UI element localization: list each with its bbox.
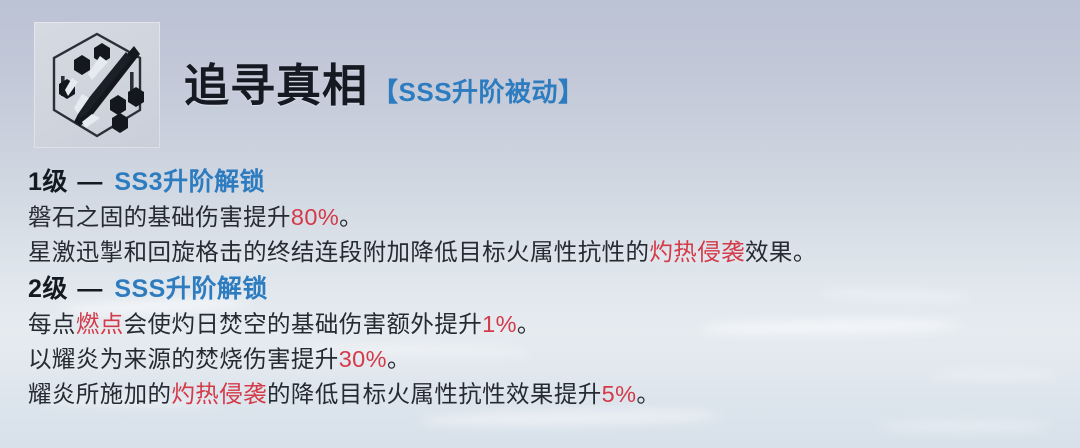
desc-segment: 耀炎所施加的	[28, 381, 171, 407]
desc-highlight: 1%	[482, 311, 517, 337]
desc-segment: 效果。	[745, 239, 817, 265]
skill-description-line: 磐石之固的基础伤害提升80%。	[28, 200, 1048, 235]
desc-highlight: 灼热侵袭	[171, 381, 267, 407]
desc-highlight: 灼热侵袭	[649, 239, 745, 265]
level-heading: 2级 — SSS升阶解锁	[28, 273, 1048, 305]
skill-info-card: 追寻真相 【SSS升阶被动】 1级 — SS3升阶解锁 磐石之固的基础伤害提升8…	[0, 0, 1080, 448]
desc-highlight: 燃点	[76, 311, 124, 337]
skill-description-line: 星激迅掣和回旋格击的终结连段附加降低目标火属性抗性的灼热侵袭效果。	[28, 235, 1048, 270]
desc-segment: 的降低目标火属性抗性效果提升	[267, 381, 602, 407]
level-unlock-label: SS3升阶解锁	[114, 168, 265, 196]
desc-segment: 。	[387, 346, 411, 372]
skill-type-tag: 【SSS升阶被动】	[372, 79, 585, 105]
desc-segment: 以耀炎为来源的焚烧伤害提升	[28, 346, 339, 372]
skill-title-group: 追寻真相 【SSS升阶被动】	[184, 63, 585, 108]
level-heading: 1级 — SS3升阶解锁	[28, 166, 1048, 198]
desc-highlight: 80%	[291, 204, 339, 230]
desc-highlight: 30%	[339, 346, 387, 372]
skill-description-line: 每点燃点会使灼日焚空的基础伤害额外提升1%。	[28, 307, 1048, 342]
skill-level-group: 1级 — SS3升阶解锁 磐石之固的基础伤害提升80%。 星激迅掣和回旋格击的终…	[28, 166, 1048, 270]
hexagon-blade-skill-icon	[34, 22, 160, 148]
skill-description-line: 以耀炎为来源的焚烧伤害提升30%。	[28, 342, 1048, 377]
desc-highlight: 5%	[602, 381, 637, 407]
level-dash: —	[75, 275, 105, 303]
desc-segment: 每点	[28, 311, 76, 337]
level-dash: —	[75, 168, 105, 196]
desc-segment: 磐石之固的基础伤害提升	[28, 204, 291, 230]
desc-segment: 。	[517, 311, 541, 337]
level-unlock-label: SSS升阶解锁	[114, 275, 268, 303]
cloud-wisp	[880, 420, 1050, 432]
level-label: 1级	[28, 168, 68, 196]
desc-segment: 。	[636, 381, 660, 407]
skill-levels-list: 1级 — SS3升阶解锁 磐石之固的基础伤害提升80%。 星激迅掣和回旋格击的终…	[28, 166, 1048, 412]
skill-header: 追寻真相 【SSS升阶被动】	[34, 22, 585, 148]
page-title: 追寻真相	[184, 63, 368, 108]
skill-level-group: 2级 — SSS升阶解锁 每点燃点会使灼日焚空的基础伤害额外提升1%。 以耀炎为…	[28, 273, 1048, 412]
skill-description-line: 耀炎所施加的灼热侵袭的降低目标火属性抗性效果提升5%。	[28, 377, 1048, 412]
desc-segment: 会使灼日焚空的基础伤害额外提升	[124, 311, 483, 337]
level-label: 2级	[28, 275, 68, 303]
desc-segment: 。	[339, 204, 363, 230]
desc-segment: 星激迅掣和回旋格击的终结连段附加降低目标火属性抗性的	[28, 239, 649, 265]
